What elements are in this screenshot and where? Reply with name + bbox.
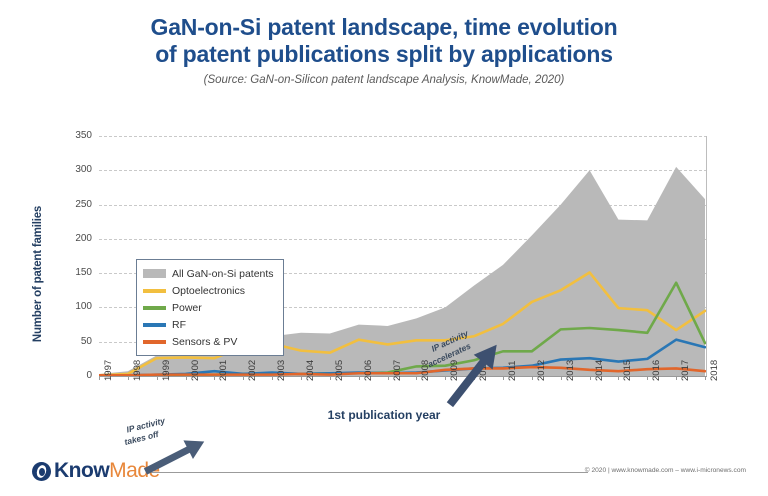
x-tick-2005: 2005 (334, 360, 345, 381)
x-tickmark-2000 (186, 376, 187, 380)
x-tick-2007: 2007 (392, 360, 403, 381)
y-tick-200: 200 (58, 233, 92, 244)
x-tickmark-2005 (330, 376, 331, 380)
chart-source-subtitle: (Source: GaN-on-Silicon patent landscape… (0, 74, 768, 86)
x-tick-2014: 2014 (594, 360, 605, 381)
legend-swatch-2 (143, 306, 166, 310)
legend-label-1: Optoelectronics (172, 285, 245, 297)
annotation-ip-activity-accelerates: IP activity accelerates (425, 330, 530, 410)
x-tick-2003: 2003 (276, 360, 287, 381)
logo-text-know: Know (54, 459, 109, 483)
x-tick-2013: 2013 (565, 360, 576, 381)
legend-item-power[interactable]: Power (143, 299, 274, 316)
x-tickmark-2002 (243, 376, 244, 380)
x-tick-2002: 2002 (247, 360, 258, 381)
x-tickmark-1999 (157, 376, 158, 380)
legend-swatch-1 (143, 289, 166, 293)
x-tick-2001: 2001 (218, 360, 229, 381)
legend-label-0: All GaN-on-Si patents (172, 268, 274, 280)
x-tick-2006: 2006 (363, 360, 374, 381)
legend-label-3: RF (172, 319, 186, 331)
x-tickmark-2007 (388, 376, 389, 380)
x-tickmark-2016 (647, 376, 648, 380)
y-tick-0: 0 (58, 370, 92, 381)
legend-item-sensors-pv[interactable]: Sensors & PV (143, 333, 274, 350)
x-tickmark-2004 (301, 376, 302, 380)
page-footer: KnowMade © 2020 | www.knowmade.com – www… (0, 448, 768, 496)
y-axis-right-line (706, 136, 707, 376)
x-tick-2018: 2018 (709, 360, 720, 381)
y-tick-150: 150 (58, 267, 92, 278)
x-tickmark-2014 (590, 376, 591, 380)
x-tick-1999: 1999 (161, 360, 172, 381)
chart-legend: All GaN-on-Si patentsOptoelectronicsPowe… (136, 259, 284, 356)
x-tick-1998: 1998 (132, 360, 143, 381)
x-tick-1997: 1997 (103, 360, 114, 381)
page-title-line1: GaN-on-Si patent landscape, time evoluti… (0, 14, 768, 41)
x-tick-2004: 2004 (305, 360, 316, 381)
y-tick-50: 50 (58, 336, 92, 347)
x-tick-2012: 2012 (536, 360, 547, 381)
legend-item-rf[interactable]: RF (143, 316, 274, 333)
knowmade-logo-icon (32, 462, 51, 481)
x-tickmark-2017 (676, 376, 677, 380)
legend-item-all-gan-on-si-patents[interactable]: All GaN-on-Si patents (143, 265, 274, 282)
annotation-ip-activity-takes-off: IP activity takes off (120, 418, 230, 478)
legend-swatch-0 (143, 269, 166, 278)
x-tickmark-2013 (561, 376, 562, 380)
x-tick-2017: 2017 (680, 360, 691, 381)
legend-swatch-4 (143, 340, 166, 344)
title-block: GaN-on-Si patent landscape, time evoluti… (0, 14, 768, 86)
x-tickmark-1997 (99, 376, 100, 380)
legend-label-4: Sensors & PV (172, 336, 237, 348)
x-tickmark-2008 (416, 376, 417, 380)
footer-copyright: © 2020 | www.knowmade.com – www.i-micron… (585, 467, 746, 474)
chart-area: Number of patent families 05010015020025… (0, 118, 768, 438)
x-tickmark-2018 (705, 376, 706, 380)
y-tick-250: 250 (58, 199, 92, 210)
x-tickmark-2001 (214, 376, 215, 380)
x-axis-title: 1st publication year (0, 408, 768, 422)
x-tickmark-1998 (128, 376, 129, 380)
legend-item-optoelectronics[interactable]: Optoelectronics (143, 282, 274, 299)
x-tick-2015: 2015 (622, 360, 633, 381)
x-tick-2016: 2016 (651, 360, 662, 381)
x-tick-2000: 2000 (190, 360, 201, 381)
x-tickmark-2003 (272, 376, 273, 380)
legend-label-2: Power (172, 302, 202, 314)
page-title-line2: of patent publications split by applicat… (0, 41, 768, 68)
y-tick-300: 300 (58, 164, 92, 175)
legend-swatch-3 (143, 323, 166, 327)
y-tick-100: 100 (58, 301, 92, 312)
x-tickmark-2012 (532, 376, 533, 380)
y-tick-350: 350 (58, 130, 92, 141)
y-axis-title: Number of patent families (32, 174, 44, 374)
x-tickmark-2006 (359, 376, 360, 380)
x-tickmark-2015 (618, 376, 619, 380)
